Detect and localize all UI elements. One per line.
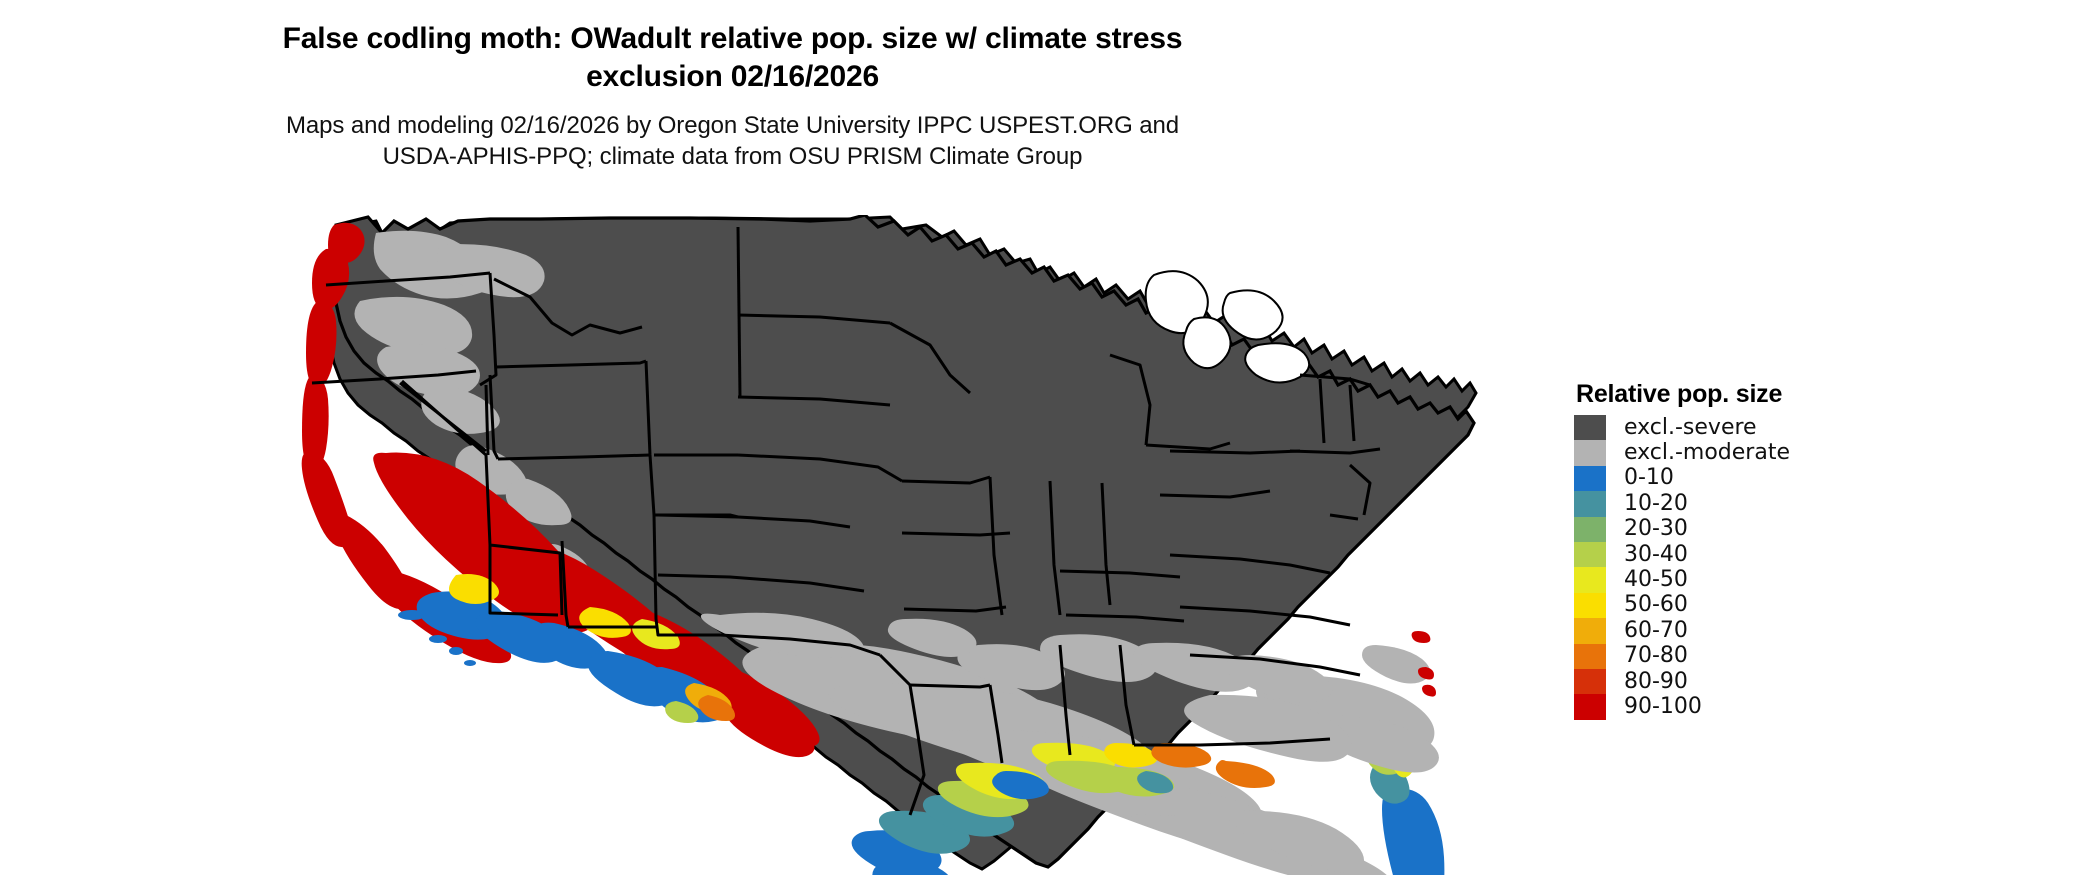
legend-color-swatch <box>1574 415 1606 440</box>
legend-color-swatch <box>1574 618 1606 643</box>
legend-item-label: 90-100 <box>1624 696 1702 718</box>
legend-item-label: 70-80 <box>1624 645 1688 667</box>
legend-color-swatch <box>1574 542 1606 567</box>
legend-item[interactable]: 70-80 <box>1574 644 1974 669</box>
legend-item-label: 10-20 <box>1624 493 1688 515</box>
legend-item[interactable]: 80-90 <box>1574 669 1974 694</box>
page-subtitle-line-2: USDA-APHIS-PPQ; climate data from OSU PR… <box>0 141 1465 173</box>
legend-item-label: excl.-moderate <box>1624 442 1790 464</box>
legend-color-swatch <box>1574 440 1606 465</box>
us-choropleth-map <box>290 215 1560 875</box>
legend-color-swatch <box>1574 669 1606 694</box>
page-title: False codling moth: OWadult relative pop… <box>0 20 1465 96</box>
legend-color-swatch <box>1574 694 1606 719</box>
legend-color-swatch <box>1574 466 1606 491</box>
legend-item[interactable]: 30-40 <box>1574 542 1974 567</box>
legend-item-label: 30-40 <box>1624 544 1688 566</box>
legend-item[interactable]: 20-30 <box>1574 517 1974 542</box>
legend-item[interactable]: 50-60 <box>1574 593 1974 618</box>
map-legend: Relative pop. size excl.-severeexcl.-mod… <box>1574 380 1974 720</box>
legend-item[interactable]: 40-50 <box>1574 567 1974 592</box>
legend-color-swatch <box>1574 491 1606 516</box>
page-title-line-2: exclusion 02/16/2026 <box>0 58 1465 96</box>
page-title-line-1: False codling moth: OWadult relative pop… <box>0 20 1465 58</box>
legend-items-list: excl.-severeexcl.-moderate0-1010-2020-30… <box>1574 415 1974 720</box>
legend-item[interactable]: 90-100 <box>1574 694 1974 719</box>
legend-item-label: 40-50 <box>1624 569 1688 591</box>
legend-color-swatch <box>1574 644 1606 669</box>
page-subtitle: Maps and modeling 02/16/2026 by Oregon S… <box>0 110 1465 173</box>
legend-color-swatch <box>1574 567 1606 592</box>
legend-color-swatch <box>1574 517 1606 542</box>
legend-item[interactable]: 60-70 <box>1574 618 1974 643</box>
legend-item[interactable]: excl.-moderate <box>1574 440 1974 465</box>
map-visualization-page: False codling moth: OWadult relative pop… <box>0 0 2100 892</box>
legend-item-label: 60-70 <box>1624 620 1688 642</box>
legend-item[interactable]: excl.-severe <box>1574 415 1974 440</box>
legend-title: Relative pop. size <box>1576 380 1974 409</box>
legend-item-label: 0-10 <box>1624 467 1674 489</box>
legend-item-label: 80-90 <box>1624 671 1688 693</box>
legend-item[interactable]: 10-20 <box>1574 491 1974 516</box>
legend-item-label: 50-60 <box>1624 594 1688 616</box>
page-subtitle-line-1: Maps and modeling 02/16/2026 by Oregon S… <box>0 110 1465 142</box>
legend-item-label: 20-30 <box>1624 518 1688 540</box>
us-map-svg <box>290 215 1560 875</box>
legend-item[interactable]: 0-10 <box>1574 466 1974 491</box>
legend-color-swatch <box>1574 593 1606 618</box>
title-block: False codling moth: OWadult relative pop… <box>0 20 1465 173</box>
legend-item-label: excl.-severe <box>1624 417 1757 439</box>
